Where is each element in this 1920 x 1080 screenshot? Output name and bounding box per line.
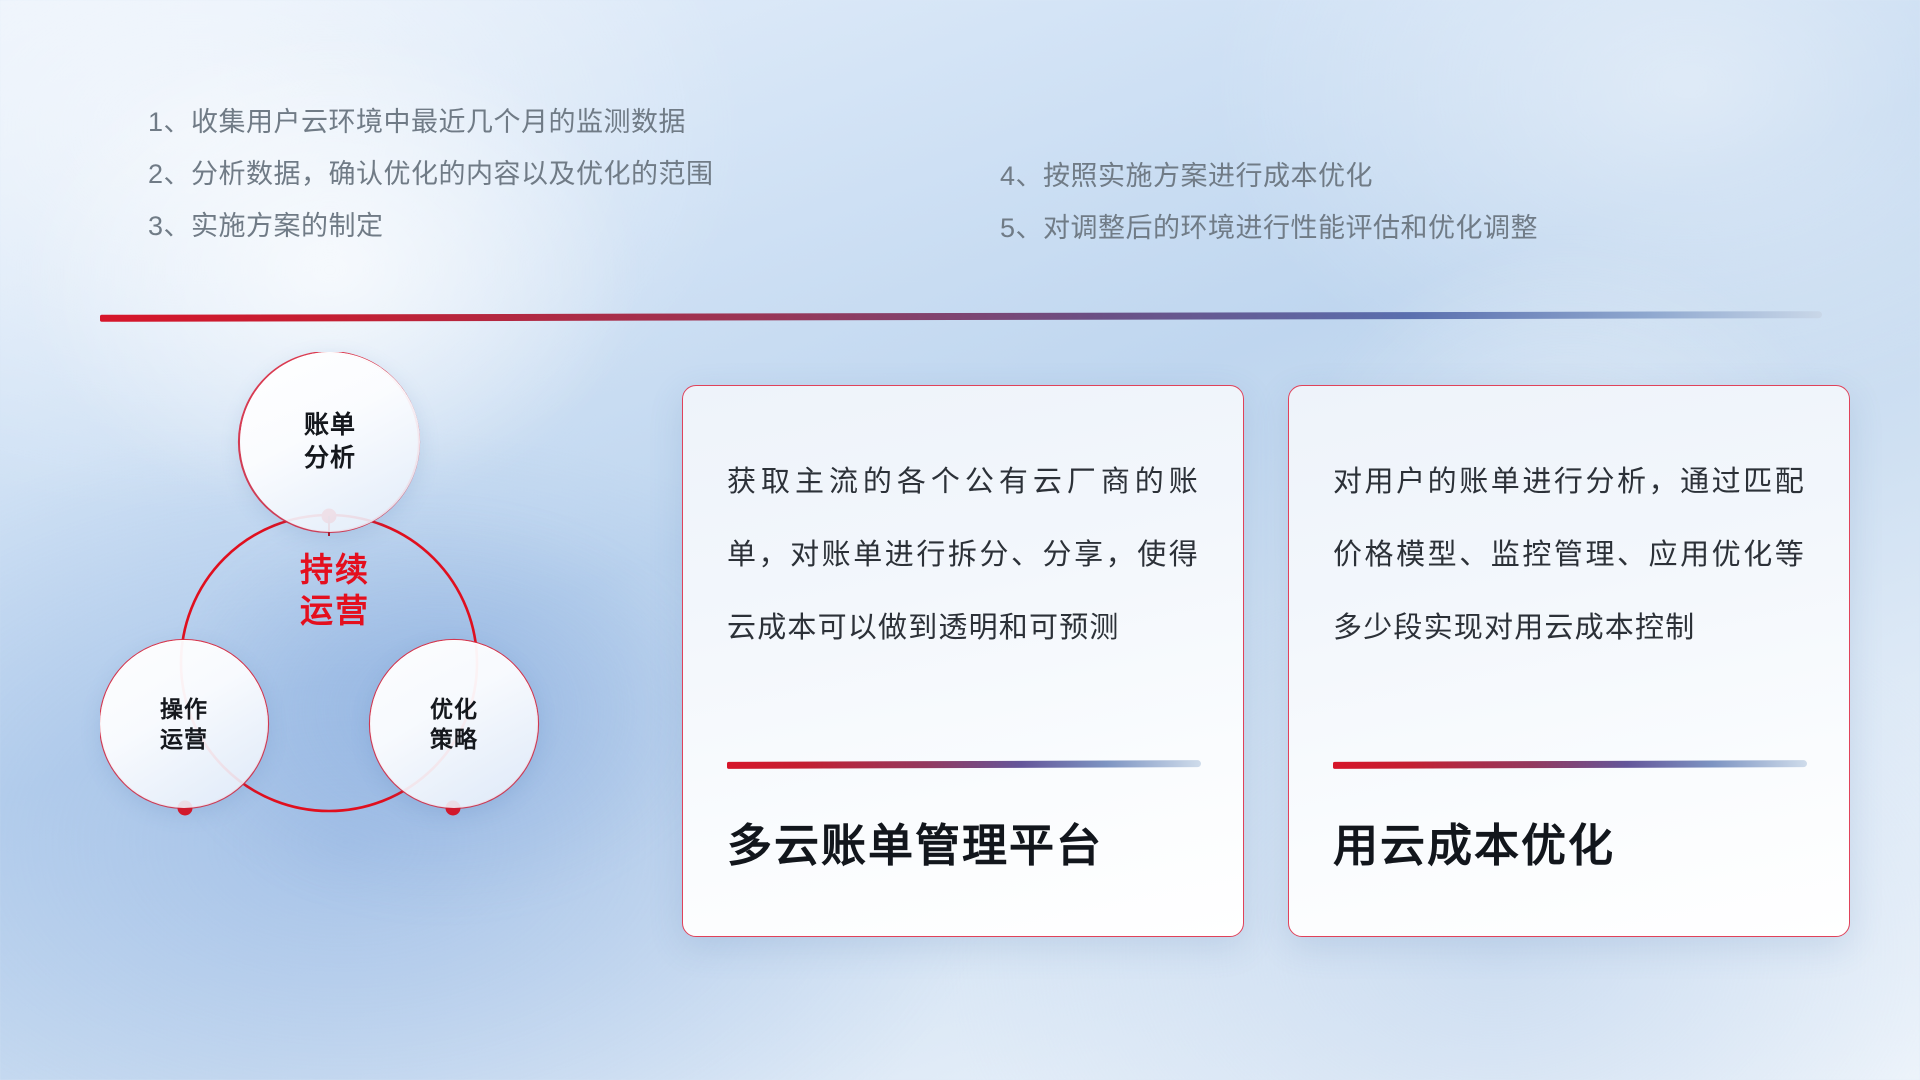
bubble-operation-management[interactable]: 操作 运营 (100, 640, 268, 808)
steps-right-column: 4、按照实施方案进行成本优化 5、对调整后的环境进行性能评估和优化调整 (1000, 150, 1740, 254)
feature-card-title: 多云账单管理平台 (727, 809, 1103, 874)
steps-left-column: 1、收集用户云环境中最近几个月的监测数据 2、分析数据，确认优化的内容以及优化的… (148, 96, 848, 252)
step-item-1: 1、收集用户云环境中最近几个月的监测数据 (148, 96, 848, 148)
feature-card-divider (727, 760, 1201, 769)
bubble-bill-analysis[interactable]: 账单 分析 (240, 352, 420, 532)
bubble-optimization-strategy[interactable]: 优化 策略 (370, 640, 538, 808)
continuous-operation-diagram: 账单 分析 操作 运营 优化 策略 持续 运营 (100, 352, 640, 952)
bubble-label-bill-analysis: 账单 分析 (304, 409, 356, 475)
step-item-5: 5、对调整后的环境进行性能评估和优化调整 (1000, 202, 1740, 254)
step-item-4: 4、按照实施方案进行成本优化 (1000, 150, 1740, 202)
step-item-2: 2、分析数据，确认优化的内容以及优化的范围 (148, 148, 848, 200)
feature-card-body: 对用户的账单进行分析，通过匹配价格模型、监控管理、应用优化等多少段实现对用云成本… (1333, 446, 1805, 665)
feature-card-divider (1333, 760, 1807, 769)
bubble-label-optimization-strategy: 优化 策略 (430, 694, 478, 755)
feature-card-multi-cloud-bill-platform[interactable]: 获取主流的各个公有云厂商的账单，对账单进行拆分、分享，使得云成本可以做到透明和可… (682, 385, 1244, 937)
feature-card-title: 用云成本优化 (1333, 809, 1615, 874)
step-item-3: 3、实施方案的制定 (148, 200, 848, 252)
bubble-label-operation-management: 操作 运营 (160, 694, 208, 755)
section-divider-rule (100, 311, 1822, 322)
feature-card-body: 获取主流的各个公有云厂商的账单，对账单进行拆分、分享，使得云成本可以做到透明和可… (727, 446, 1199, 665)
feature-card-cloud-cost-optimization[interactable]: 对用户的账单进行分析，通过匹配价格模型、监控管理、应用优化等多少段实现对用云成本… (1288, 385, 1850, 937)
diagram-center-label: 持续 运营 (250, 530, 420, 650)
